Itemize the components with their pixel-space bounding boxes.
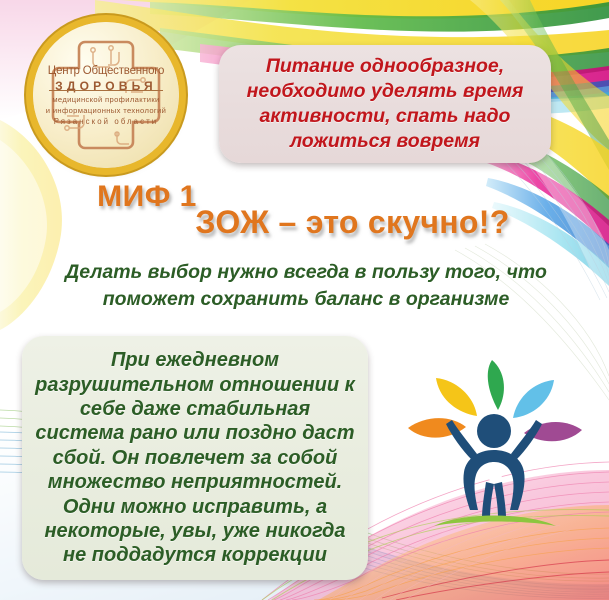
figure-leg-right [494,482,506,518]
top-message-panel: Питание однообразное, необходимо уделять… [219,45,551,163]
leaf-yellow [436,378,477,416]
tree-person-logo [404,358,589,538]
emblem-line-3: медицинской профилактики [33,95,179,104]
leaf-blue [513,380,554,418]
bottom-message-text: При ежедневном разрушительном отношении … [34,348,356,568]
emblem-line-4: и информационных технологий [33,106,179,115]
figure-arm-right [511,420,542,460]
emblem-line-1: Центр Общественного [33,65,179,77]
figure-head [477,414,511,448]
emblem-line-5: Рязанской области [33,117,179,126]
organization-emblem: Центр Общественного ЗДОРОВЬЯ медицинской… [33,22,179,168]
tree-person-icon [404,358,589,538]
figure-leg-left [482,482,494,518]
bottom-message-panel: При ежедневном разрушительном отношении … [22,336,368,580]
top-message-text: Питание однообразное, необходимо уделять… [229,54,541,154]
poster-canvas: Центр Общественного ЗДОРОВЬЯ медицинской… [0,0,609,600]
page-title: ЗОЖ – это скучно!? [180,204,525,241]
ground-arc [434,516,556,527]
figure-inner-circle [485,463,503,481]
leaf-green [488,360,504,410]
subtitle-text: Делать выбор нужно всегда в пользу того,… [52,259,560,313]
